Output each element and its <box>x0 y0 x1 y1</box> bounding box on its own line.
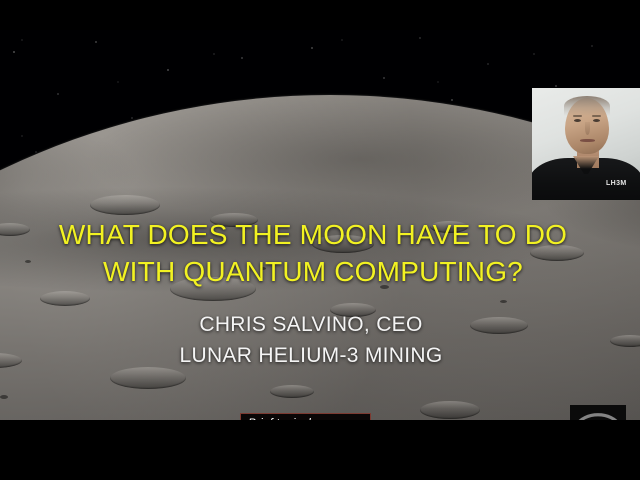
speaker-brow-left <box>573 115 582 117</box>
speaker-eye-left <box>574 119 581 122</box>
speaker-hair <box>564 96 610 116</box>
shirt-lh3m-logo: LH3M <box>606 180 627 187</box>
slide-stage: WHAT DOES THE MOON HAVE TO DO WITH QUANT… <box>0 0 640 480</box>
speaker-brow-right <box>592 115 601 117</box>
caption-box: Brief topical summary <box>240 413 371 420</box>
subtitle-line-presenter: CHRIS SALVINO, CEO <box>0 309 622 340</box>
slide-subtitle: CHRIS SALVINO, CEO LUNAR HELIUM-3 MINING <box>0 309 622 371</box>
video-frame: WHAT DOES THE MOON HAVE TO DO WITH QUANT… <box>0 30 640 420</box>
letterbox-bar-bottom <box>0 420 640 480</box>
title-line-2: WITH QUANTUM COMPUTING? <box>0 253 626 290</box>
speaker-mouth <box>580 139 595 142</box>
speaker-webcam-inset[interactable]: LH3M <box>532 88 640 200</box>
subtitle-line-company: LUNAR HELIUM-3 MINING <box>0 340 622 371</box>
slide-title: WHAT DOES THE MOON HAVE TO DO WITH QUANT… <box>0 216 626 290</box>
lh3m-corner-logo: LH3M <box>570 405 626 420</box>
letterbox-bar-top <box>0 0 640 30</box>
speaker-nose <box>585 122 590 135</box>
speaker-eye-right <box>593 119 600 122</box>
title-line-1: WHAT DOES THE MOON HAVE TO DO <box>0 216 626 253</box>
